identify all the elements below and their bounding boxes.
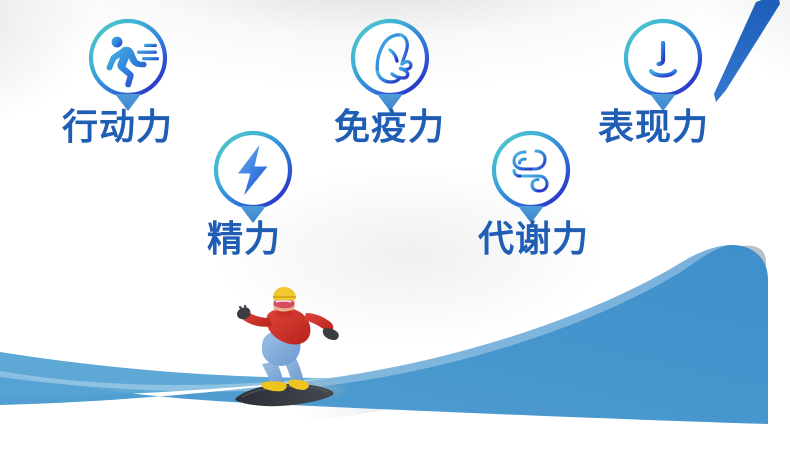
smiley-face-icon [621, 16, 705, 100]
pin-label-energy: 精力 [207, 222, 281, 258]
poster-canvas: 行动力 精力 [0, 0, 790, 461]
pin-marker-metabolism[interactable] [489, 128, 573, 232]
pin-marker-performance[interactable] [621, 16, 705, 120]
pin-marker-immunity[interactable] [348, 16, 432, 120]
pin-marker-action[interactable] [86, 16, 170, 120]
snowboarder-figure [228, 286, 348, 414]
intestine-icon [489, 128, 573, 212]
pin-label-performance: 表现力 [598, 110, 709, 146]
lightning-bolt-icon [211, 128, 295, 212]
flexed-bicep-icon [348, 16, 432, 100]
pin-marker-energy[interactable] [211, 128, 295, 232]
pin-label-metabolism: 代谢力 [478, 222, 589, 258]
pin-label-immunity: 免疫力 [334, 110, 445, 146]
pin-label-action: 行动力 [62, 110, 173, 146]
running-person-icon [86, 16, 170, 100]
